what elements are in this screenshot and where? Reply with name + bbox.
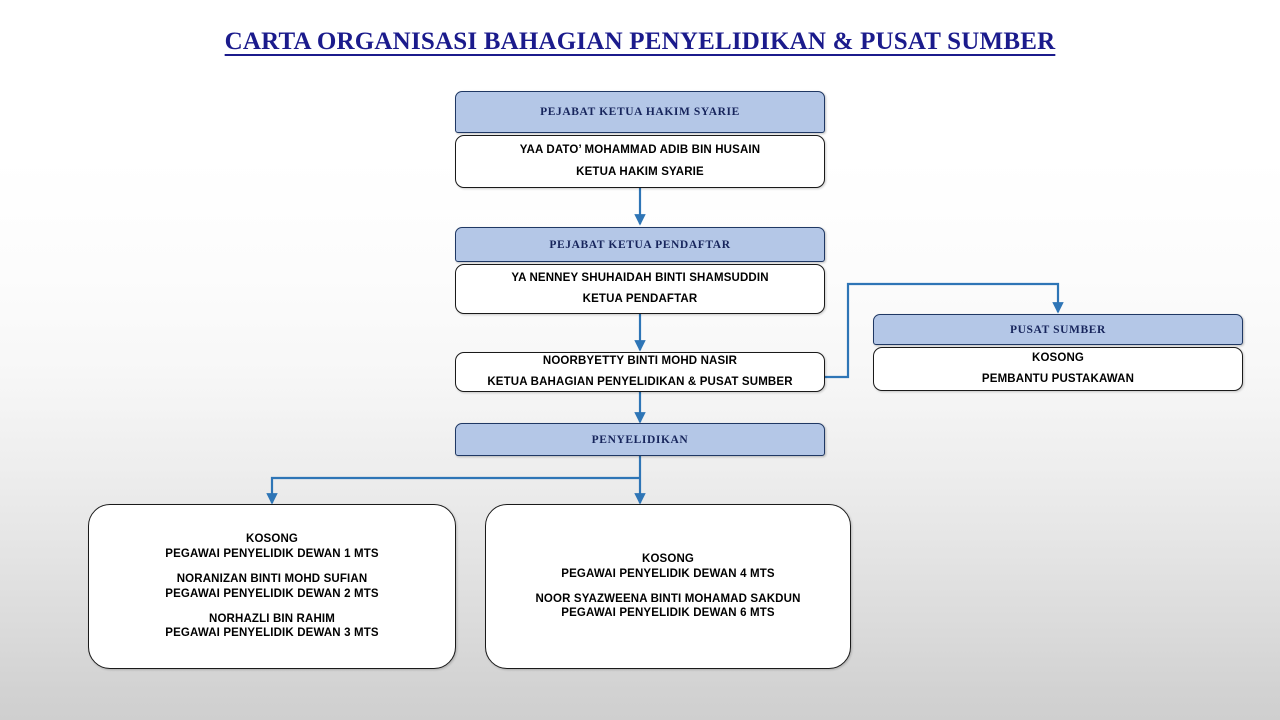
staff-entry: NORHAZLI BIN RAHIM PEGAWAI PENYELIDIK DE… [157, 612, 386, 641]
person-name: YAA DATO’ MOHAMMAD ADIB BIN HUSAIN [514, 140, 766, 162]
node-ketua-bahagian[interactable]: NOORBYETTY BINTI MOHD NASIR KETUA BAHAGI… [455, 352, 825, 392]
staff-entry: NORANIZAN BINTI MOHD SUFIAN PEGAWAI PENY… [157, 572, 386, 601]
node-staff-left[interactable]: KOSONG PEGAWAI PENYELIDIK DEWAN 1 MTS NO… [88, 504, 456, 669]
person-name: KOSONG [157, 532, 386, 546]
connector-penyelidikan-to-staff-left [272, 478, 640, 503]
person-name: KOSONG [553, 552, 782, 566]
person-position: KETUA HAKIM SYARIE [570, 162, 710, 184]
node-pusat-sumber-body[interactable]: KOSONG PEMBANTU PUSTAKAWAN [873, 347, 1243, 391]
person-name: NORANIZAN BINTI MOHD SUFIAN [157, 572, 386, 586]
staff-entry: KOSONG PEGAWAI PENYELIDIK DEWAN 4 MTS [553, 552, 782, 581]
person-name: NORHAZLI BIN RAHIM [157, 612, 386, 626]
person-name: YA NENNEY SHUHAIDAH BINTI SHAMSUDDIN [505, 268, 774, 290]
node-penyelidikan[interactable]: PENYELIDIKAN [455, 423, 825, 456]
staff-entry: KOSONG PEGAWAI PENYELIDIK DEWAN 1 MTS [157, 532, 386, 561]
staff-entry: NOOR SYAZWEENA BINTI MOHAMAD SAKDUN PEGA… [527, 592, 808, 621]
org-chart-canvas: CARTA ORGANISASI BAHAGIAN PENYELIDIKAN &… [0, 0, 1280, 720]
node-ketua-hakim-syarie-body[interactable]: YAA DATO’ MOHAMMAD ADIB BIN HUSAIN KETUA… [455, 135, 825, 188]
person-position: PEMBANTU PUSTAKAWAN [976, 369, 1140, 391]
node-header-label: PENYELIDIKAN [455, 423, 825, 456]
person-position: PEGAWAI PENYELIDIK DEWAN 2 MTS [157, 587, 386, 601]
node-header-label: PUSAT SUMBER [873, 314, 1243, 345]
person-name: NOOR SYAZWEENA BINTI MOHAMAD SAKDUN [527, 592, 808, 606]
person-name: KOSONG [1026, 348, 1090, 370]
node-ketua-hakim-syarie[interactable]: PEJABAT KETUA HAKIM SYARIE [455, 91, 825, 133]
person-name: NOORBYETTY BINTI MOHD NASIR [537, 351, 743, 373]
page-title: CARTA ORGANISASI BAHAGIAN PENYELIDIKAN &… [0, 28, 1280, 56]
person-position: KETUA BAHAGIAN PENYELIDIKAN & PUSAT SUMB… [481, 372, 798, 394]
person-position: PEGAWAI PENYELIDIK DEWAN 4 MTS [553, 567, 782, 581]
node-header-label: PEJABAT KETUA PENDAFTAR [455, 227, 825, 262]
person-position: PEGAWAI PENYELIDIK DEWAN 3 MTS [157, 626, 386, 640]
node-ketua-pendaftar[interactable]: PEJABAT KETUA PENDAFTAR [455, 227, 825, 262]
node-header-label: PEJABAT KETUA HAKIM SYARIE [455, 91, 825, 133]
person-position: KETUA PENDAFTAR [577, 289, 704, 311]
node-pusat-sumber[interactable]: PUSAT SUMBER [873, 314, 1243, 345]
node-ketua-pendaftar-body[interactable]: YA NENNEY SHUHAIDAH BINTI SHAMSUDDIN KET… [455, 264, 825, 314]
person-position: PEGAWAI PENYELIDIK DEWAN 6 MTS [527, 606, 808, 620]
node-staff-right[interactable]: KOSONG PEGAWAI PENYELIDIK DEWAN 4 MTS NO… [485, 504, 851, 669]
person-position: PEGAWAI PENYELIDIK DEWAN 1 MTS [157, 547, 386, 561]
